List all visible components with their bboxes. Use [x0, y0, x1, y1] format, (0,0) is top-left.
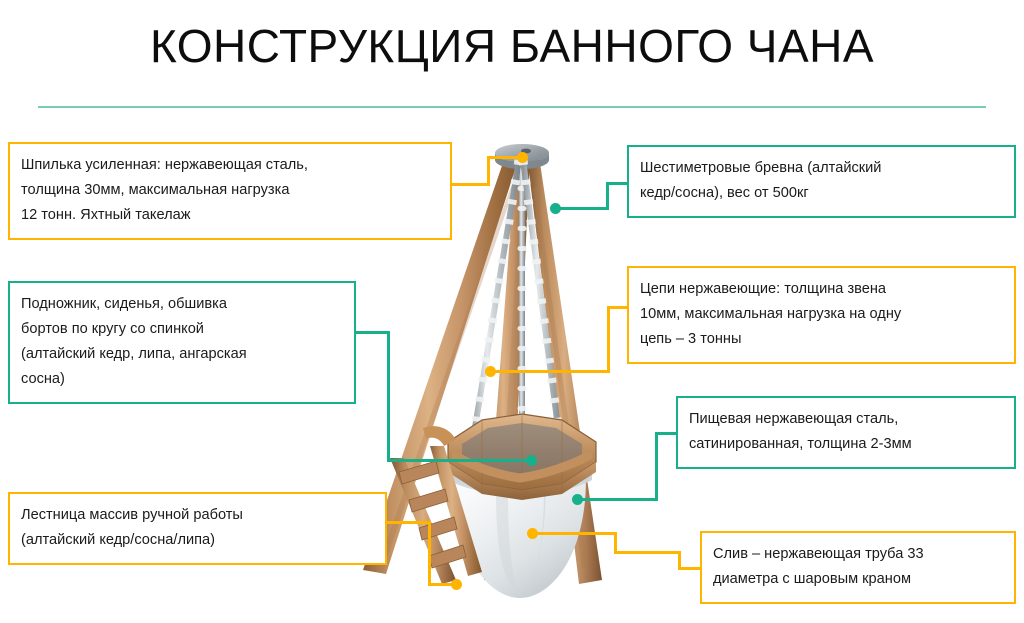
callout-chains-line-3: цепь – 3 тонны	[640, 327, 1003, 352]
callout-drain-line-1: Слив – нержавеющая труба 33	[713, 542, 1003, 567]
leader-chains-v	[607, 306, 610, 372]
callout-seats-line-4: сосна)	[21, 367, 343, 392]
callout-seats-line-1: Подножник, сиденья, обшивка	[21, 292, 343, 317]
anchor-dot-chains	[485, 366, 496, 377]
anchor-dot-logs	[550, 203, 561, 214]
leader-seats-h1	[356, 331, 390, 334]
leader-drain-h1	[678, 567, 702, 570]
callout-chains-line-1: Цепи нержавеющие: толщина звена	[640, 277, 1003, 302]
callout-logs-line-2: кедр/сосна), вес от 500кг	[640, 181, 1003, 206]
callout-stud-line-1: Шпилька усиленная: нержавеющая сталь,	[21, 153, 439, 178]
callout-seats-line-2: бортов по кругу со спинкой	[21, 317, 343, 342]
leader-chains-h2	[492, 370, 610, 373]
callout-drain: Слив – нержавеющая труба 33 диаметра с ш…	[700, 531, 1016, 604]
leader-seats-v	[387, 331, 390, 461]
anchor-dot-ladder	[451, 579, 462, 590]
anchor-dot-drain	[527, 528, 538, 539]
anchor-dot-stud	[517, 152, 528, 163]
anchor-dot-steel	[572, 494, 583, 505]
callout-chains: Цепи нержавеющие: толщина звена 10мм, ма…	[627, 266, 1016, 364]
leader-ladder-h1	[387, 521, 431, 524]
callout-ladder: Лестница массив ручной работы (алтайский…	[8, 492, 387, 565]
callout-ladder-line-2: (алтайский кедр/сосна/липа)	[21, 528, 374, 553]
callout-steel-line-2: сатинированная, толщина 2-3мм	[689, 432, 1003, 457]
title-divider	[38, 106, 986, 108]
callout-chains-line-2: 10мм, максимальная нагрузка на одну	[640, 302, 1003, 327]
leader-ladder-v	[428, 521, 431, 585]
leader-stud-v	[487, 156, 490, 186]
leader-drain-h3	[536, 532, 616, 535]
leader-steel-v	[655, 432, 658, 500]
callout-steel-line-1: Пищевая нержавеющая сталь,	[689, 407, 1003, 432]
leader-seats-h2	[387, 459, 533, 462]
callout-logs: Шестиметровые бревна (алтайский кедр/сос…	[627, 145, 1016, 218]
callout-logs-line-1: Шестиметровые бревна (алтайский	[640, 156, 1003, 181]
leader-steel-h2	[580, 498, 658, 501]
leader-stud-h1	[452, 183, 490, 186]
leader-drain-v2	[614, 532, 617, 554]
infographic-canvas: КОНСТРУКЦИЯ БАННОГО ЧАНА	[0, 0, 1024, 623]
callout-steel: Пищевая нержавеющая сталь, сатинированна…	[676, 396, 1016, 469]
callout-seats-line-3: (алтайский кедр, липа, ангарская	[21, 342, 343, 367]
leader-drain-h2	[614, 551, 680, 554]
callout-stud-line-2: толщина 30мм, максимальная нагрузка	[21, 178, 439, 203]
callout-stud: Шпилька усиленная: нержавеющая сталь, то…	[8, 142, 452, 240]
callout-seats: Подножник, сиденья, обшивка бортов по кр…	[8, 281, 356, 404]
callout-drain-line-2: диаметра с шаровым краном	[713, 567, 1003, 592]
callout-ladder-line-1: Лестница массив ручной работы	[21, 503, 374, 528]
anchor-dot-seats	[526, 455, 537, 466]
leader-logs-h2	[560, 207, 608, 210]
page-title: КОНСТРУКЦИЯ БАННОГО ЧАНА	[0, 18, 1024, 74]
leader-logs-v	[606, 182, 609, 210]
callout-stud-line-3: 12 тонн. Яхтный такелаж	[21, 203, 439, 228]
